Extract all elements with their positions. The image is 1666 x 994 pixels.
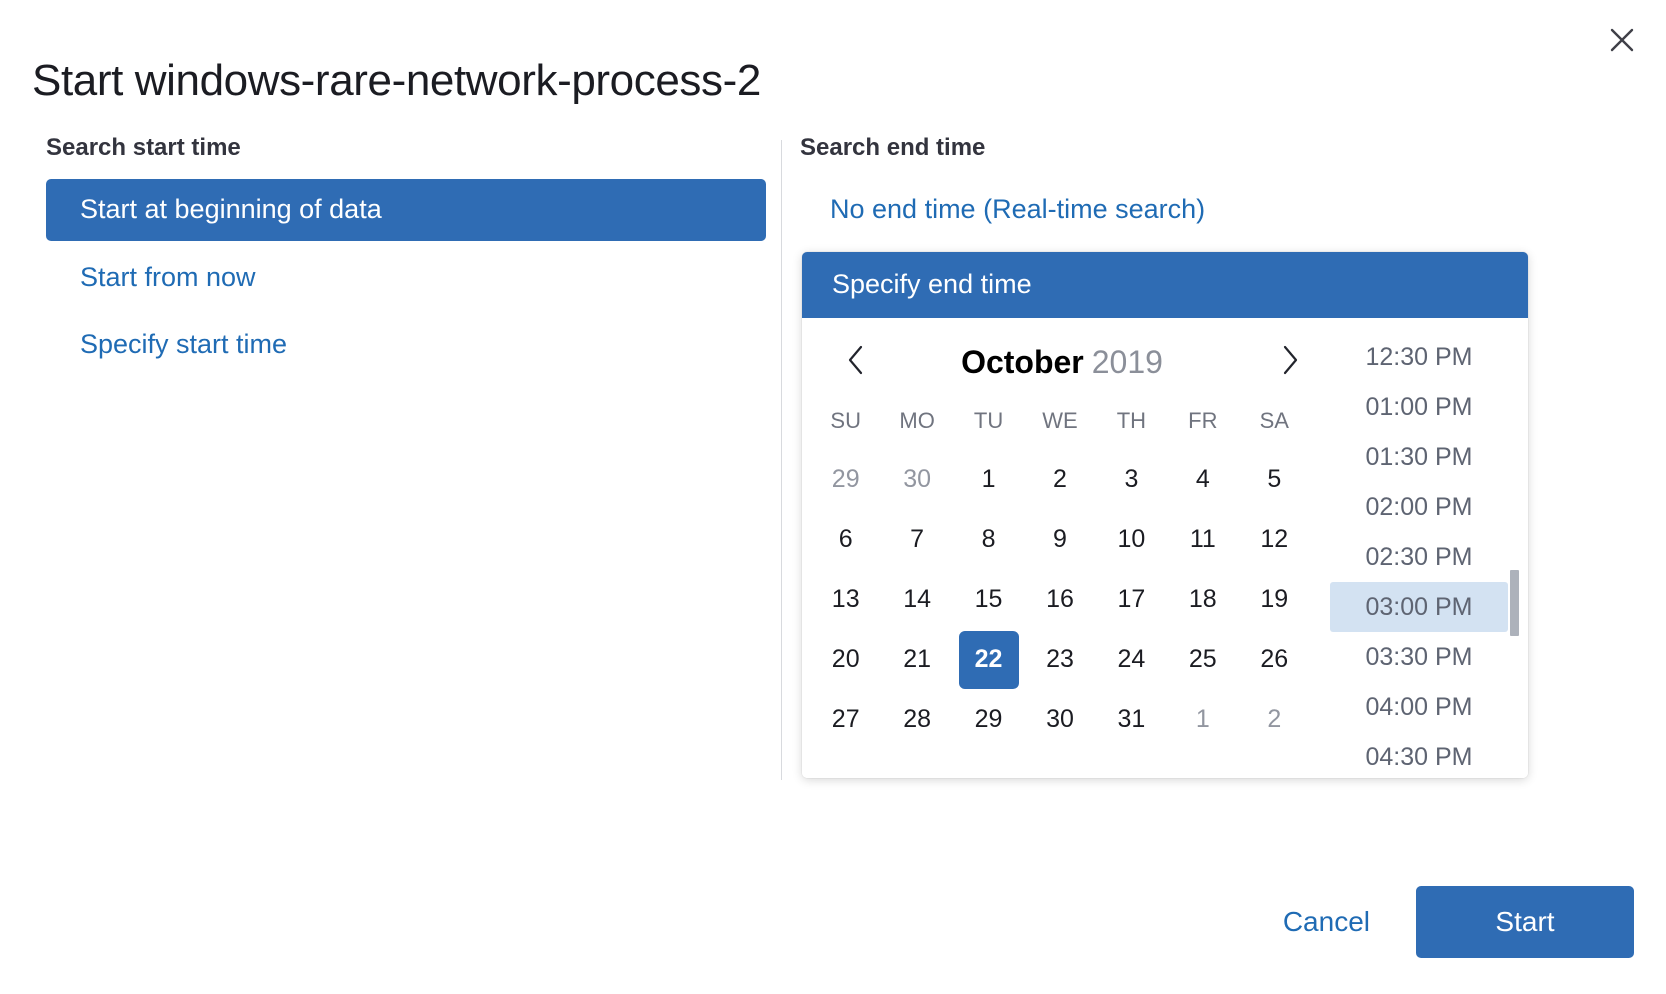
calendar-day-30[interactable]: 30 xyxy=(1030,691,1090,749)
calendar-day-2[interactable]: 2 xyxy=(1030,451,1090,509)
calendar-day-18[interactable]: 18 xyxy=(1173,571,1233,629)
calendar-day-cell: 18 xyxy=(1167,570,1238,630)
chevron-right-icon xyxy=(1280,344,1300,381)
search-end-time-heading: Search end time xyxy=(800,134,1590,163)
time-option-04-00-pm[interactable]: 04:00 PM xyxy=(1330,682,1508,732)
calendar-day-cell: 30 xyxy=(881,450,952,510)
calendar-day-cell: 15 xyxy=(953,570,1024,630)
calendar-day-5[interactable]: 5 xyxy=(1244,451,1304,509)
calendar-day-cell: 20 xyxy=(810,630,881,690)
calendar-week-row: 6789101112 xyxy=(810,510,1310,570)
calendar-day-cell: 2 xyxy=(1024,450,1095,510)
calendar-day-13[interactable]: 13 xyxy=(816,571,876,629)
calendar-day-23[interactable]: 23 xyxy=(1030,631,1090,689)
calendar-day-1[interactable]: 1 xyxy=(959,451,1019,509)
start-option-from-now[interactable]: Start from now xyxy=(46,247,766,309)
start-time-option-list: Start at beginning of data Start from no… xyxy=(46,179,778,376)
calendar-day-24[interactable]: 24 xyxy=(1101,631,1161,689)
calendar-day-cell: 30 xyxy=(1024,690,1095,750)
calendar-day-3[interactable]: 3 xyxy=(1101,451,1161,509)
calendar-day-27[interactable]: 27 xyxy=(816,691,876,749)
close-dialog-button[interactable] xyxy=(1600,18,1644,62)
calendar-nav: October2019 xyxy=(802,328,1322,398)
calendar-day-16[interactable]: 16 xyxy=(1030,571,1090,629)
calendar-day-14[interactable]: 14 xyxy=(887,571,947,629)
calendar-day-cell: 19 xyxy=(1239,570,1310,630)
search-start-time-heading: Search start time xyxy=(46,134,778,163)
calendar-day-cell: 31 xyxy=(1096,690,1167,750)
calendar-weeks: 2930123456789101112131415161718192021222… xyxy=(810,450,1310,750)
time-option-03-00-pm[interactable]: 03:00 PM xyxy=(1330,582,1508,632)
calendar-day-20[interactable]: 20 xyxy=(816,631,876,689)
calendar-grid: SU MO TU WE TH FR SA 2930123456789101112… xyxy=(810,398,1310,750)
calendar-day-cell: 9 xyxy=(1024,510,1095,570)
search-end-time-column: Search end time No end time (Real-time s… xyxy=(800,134,1590,241)
calendar-year-label: 2019 xyxy=(1092,344,1163,380)
calendar-day-17[interactable]: 17 xyxy=(1101,571,1161,629)
calendar-day-cell: 1 xyxy=(1167,690,1238,750)
calendar-day-cell: 1 xyxy=(953,450,1024,510)
end-option-no-end-time[interactable]: No end time (Real-time search) xyxy=(800,179,1590,241)
calendar-day-31[interactable]: 31 xyxy=(1101,691,1161,749)
time-option-04-30-pm[interactable]: 04:30 PM xyxy=(1330,732,1508,778)
calendar-day-cell: 17 xyxy=(1096,570,1167,630)
calendar-day-cell: 29 xyxy=(810,450,881,510)
time-option-01-00-pm[interactable]: 01:00 PM xyxy=(1330,382,1508,432)
calendar-day-cell: 7 xyxy=(881,510,952,570)
calendar-day-10[interactable]: 10 xyxy=(1101,511,1161,569)
search-start-time-column: Search start time Start at beginning of … xyxy=(46,134,778,376)
calendar-day-26[interactable]: 26 xyxy=(1244,631,1304,689)
calendar-day-cell: 29 xyxy=(953,690,1024,750)
calendar-day-4[interactable]: 4 xyxy=(1173,451,1233,509)
prev-month-button[interactable] xyxy=(834,341,878,385)
close-icon xyxy=(1608,26,1636,54)
calendar-day-cell: 28 xyxy=(881,690,952,750)
calendar-day-cell: 12 xyxy=(1239,510,1310,570)
calendar-day-cell: 11 xyxy=(1167,510,1238,570)
time-list-panel: 12:30 PM01:00 PM01:30 PM02:00 PM02:30 PM… xyxy=(1322,318,1528,778)
time-option-02-00-pm[interactable]: 02:00 PM xyxy=(1330,482,1508,532)
calendar-day-29[interactable]: 29 xyxy=(816,451,876,509)
calendar-week-row: 13141516171819 xyxy=(810,570,1310,630)
calendar-day-30[interactable]: 30 xyxy=(887,451,947,509)
calendar-day-7[interactable]: 7 xyxy=(887,511,947,569)
calendar-day-cell: 22 xyxy=(953,630,1024,690)
time-range-columns: Search start time Start at beginning of … xyxy=(0,134,1666,814)
start-button[interactable]: Start xyxy=(1416,886,1634,958)
calendar-week-row: 20212223242526 xyxy=(810,630,1310,690)
time-option-01-30-pm[interactable]: 01:30 PM xyxy=(1330,432,1508,482)
calendar-day-11[interactable]: 11 xyxy=(1173,511,1233,569)
calendar-day-25[interactable]: 25 xyxy=(1173,631,1233,689)
calendar-day-cell: 16 xyxy=(1024,570,1095,630)
end-option-specify-end-time[interactable]: Specify end time xyxy=(802,252,1528,318)
page-title: Start windows-rare-network-process-2 xyxy=(32,55,761,108)
calendar-day-28[interactable]: 28 xyxy=(887,691,947,749)
calendar-day-8[interactable]: 8 xyxy=(959,511,1019,569)
calendar-day-19[interactable]: 19 xyxy=(1244,571,1304,629)
time-option-12-30-pm[interactable]: 12:30 PM xyxy=(1330,332,1508,382)
calendar-day-cell: 3 xyxy=(1096,450,1167,510)
calendar-weekday-row: SU MO TU WE TH FR SA xyxy=(810,398,1310,450)
calendar-day-21[interactable]: 21 xyxy=(887,631,947,689)
time-list-scrollbar[interactable] xyxy=(1510,318,1520,778)
weekday-su: SU xyxy=(810,398,881,450)
calendar-day-cell: 6 xyxy=(810,510,881,570)
calendar-day-cell: 24 xyxy=(1096,630,1167,690)
calendar-day-cell: 10 xyxy=(1096,510,1167,570)
weekday-mo: MO xyxy=(881,398,952,450)
time-option-03-30-pm[interactable]: 03:30 PM xyxy=(1330,632,1508,682)
time-list-scrollbar-thumb[interactable] xyxy=(1510,570,1519,636)
weekday-we: WE xyxy=(1024,398,1095,450)
calendar-day-12[interactable]: 12 xyxy=(1244,511,1304,569)
calendar-panel: October2019 xyxy=(802,318,1322,778)
calendar-day-cell: 5 xyxy=(1239,450,1310,510)
calendar-day-9[interactable]: 9 xyxy=(1030,511,1090,569)
calendar-week-row: 272829303112 xyxy=(810,690,1310,750)
chevron-left-icon xyxy=(846,344,866,381)
calendar-day-1[interactable]: 1 xyxy=(1173,691,1233,749)
calendar-day-6[interactable]: 6 xyxy=(816,511,876,569)
time-list: 12:30 PM01:00 PM01:30 PM02:00 PM02:30 PM… xyxy=(1322,332,1528,778)
calendar-day-cell: 13 xyxy=(810,570,881,630)
next-month-button[interactable] xyxy=(1268,341,1312,385)
start-option-specify-start-time[interactable]: Specify start time xyxy=(46,314,766,376)
calendar-month-year: October2019 xyxy=(961,344,1163,381)
calendar-day-cell: 26 xyxy=(1239,630,1310,690)
start-option-beginning-of-data[interactable]: Start at beginning of data xyxy=(46,179,766,241)
calendar-day-15[interactable]: 15 xyxy=(959,571,1019,629)
time-option-02-30-pm[interactable]: 02:30 PM xyxy=(1330,532,1508,582)
cancel-button[interactable]: Cancel xyxy=(1277,896,1376,948)
weekday-tu: TU xyxy=(953,398,1024,450)
calendar-day-29[interactable]: 29 xyxy=(959,691,1019,749)
calendar-day-cell: 14 xyxy=(881,570,952,630)
calendar-day-22[interactable]: 22 xyxy=(959,631,1019,689)
end-time-picker-popup: Specify end time October20 xyxy=(802,252,1528,778)
calendar-day-cell: 27 xyxy=(810,690,881,750)
date-time-picker-body: October2019 xyxy=(802,318,1528,778)
weekday-fr: FR xyxy=(1167,398,1238,450)
calendar-day-cell: 23 xyxy=(1024,630,1095,690)
weekday-th: TH xyxy=(1096,398,1167,450)
column-divider xyxy=(781,140,782,780)
weekday-sa: SA xyxy=(1239,398,1310,450)
dialog-footer: Cancel Start xyxy=(1277,886,1634,958)
calendar-day-cell: 25 xyxy=(1167,630,1238,690)
calendar-day-2[interactable]: 2 xyxy=(1244,691,1304,749)
calendar-day-cell: 21 xyxy=(881,630,952,690)
calendar-week-row: 293012345 xyxy=(810,450,1310,510)
calendar-day-cell: 4 xyxy=(1167,450,1238,510)
calendar-month-label: October xyxy=(961,344,1084,380)
calendar-day-cell: 8 xyxy=(953,510,1024,570)
calendar-day-cell: 2 xyxy=(1239,690,1310,750)
